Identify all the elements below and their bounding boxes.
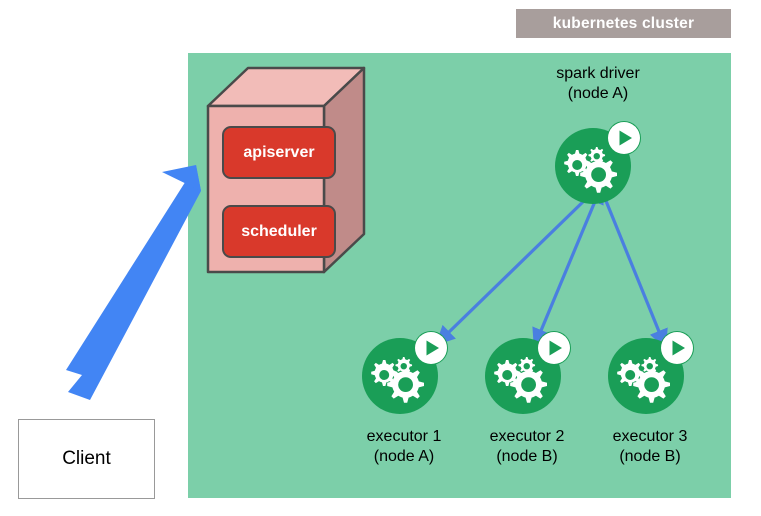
- executor-2-glyph: [481, 328, 573, 416]
- scheduler-label: scheduler: [224, 207, 334, 256]
- executor-3-name: executor 3: [582, 427, 718, 447]
- spark-submit-arrow: [55, 160, 215, 406]
- executor-3-node: (node B): [582, 447, 718, 467]
- kubernetes-cluster-badge: kubernetes cluster: [516, 9, 731, 38]
- client-label: Client: [62, 448, 111, 470]
- executor-2-node: (node B): [459, 447, 595, 467]
- spark-driver-icon[interactable]: [551, 118, 643, 206]
- executor-3-icon[interactable]: [604, 328, 696, 416]
- diagram-canvas: kubernetes cluster apiserver scheduler s…: [0, 0, 761, 516]
- apiserver-component[interactable]: apiserver: [222, 126, 336, 179]
- executor-2-name: executor 2: [459, 427, 595, 447]
- executor-3-caption: executor 3 (node B): [582, 427, 718, 467]
- executor-1-caption: executor 1 (node A): [336, 427, 472, 467]
- spark-driver-glyph: [551, 118, 643, 206]
- executor-1-name: executor 1: [336, 427, 472, 447]
- scheduler-component[interactable]: scheduler: [222, 205, 336, 258]
- executor-1-icon[interactable]: [358, 328, 450, 416]
- executor-2-icon[interactable]: [481, 328, 573, 416]
- kubernetes-cluster-badge-label: kubernetes cluster: [553, 15, 694, 33]
- executor-3-glyph: [604, 328, 696, 416]
- executor-1-node: (node A): [336, 447, 472, 467]
- client-box[interactable]: Client: [18, 419, 155, 499]
- executor-1-glyph: [358, 328, 450, 416]
- spark-submit-arrow-shape: [55, 160, 215, 406]
- apiserver-label: apiserver: [224, 128, 334, 177]
- spark-driver-name: spark driver: [528, 64, 668, 84]
- spark-driver-node: (node A): [528, 84, 668, 104]
- spark-driver-caption: spark driver (node A): [528, 64, 668, 104]
- executor-2-caption: executor 2 (node B): [459, 427, 595, 467]
